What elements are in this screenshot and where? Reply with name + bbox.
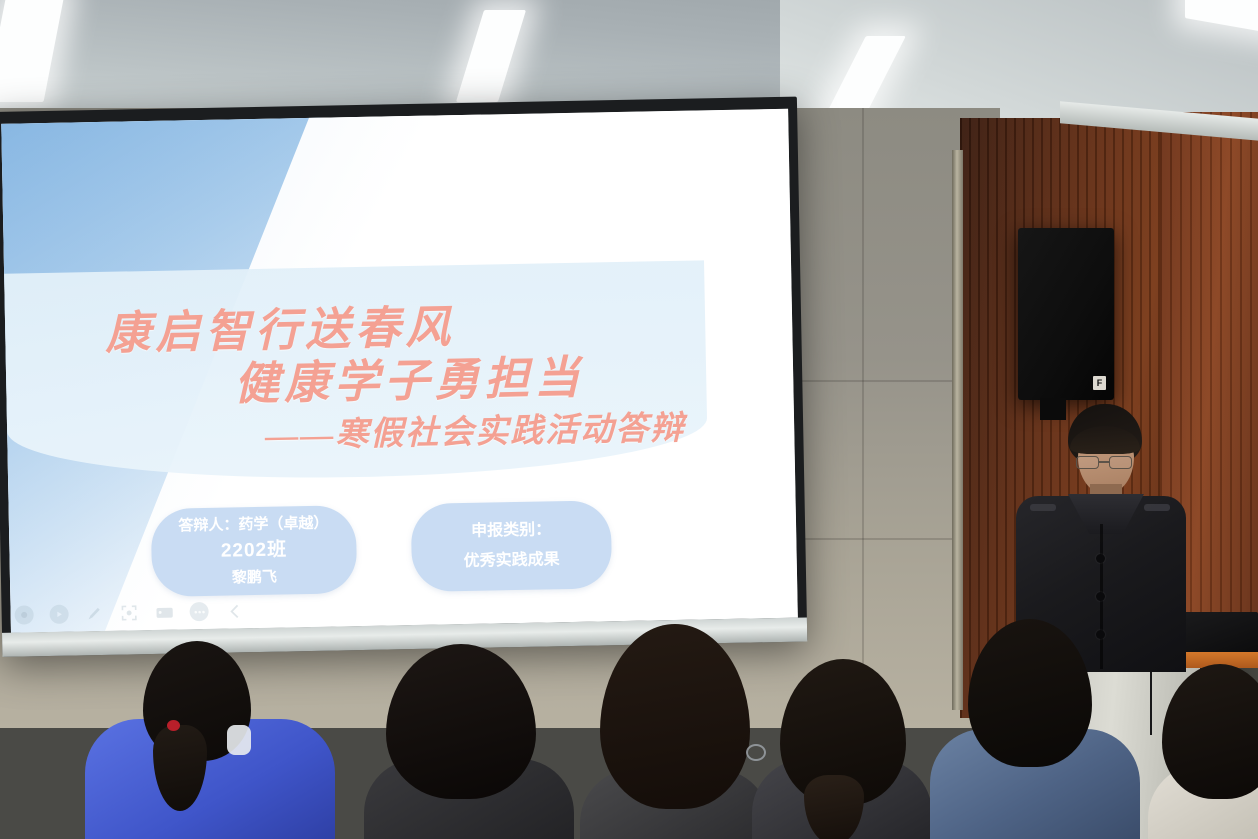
pen-icon[interactable] bbox=[84, 604, 103, 623]
presenter-epaulet-right bbox=[1144, 504, 1170, 511]
presenter-coat-button-1 bbox=[1096, 554, 1105, 563]
play-icon[interactable] bbox=[49, 605, 68, 624]
presenter-glasses-bridge bbox=[1099, 461, 1109, 463]
presenter-glasses-lens-right bbox=[1109, 456, 1132, 469]
pa-speaker: F bbox=[1018, 228, 1114, 400]
slide-pill-presenter: 答辩人：药学（卓越） 2202班 黎鹏飞 bbox=[151, 505, 358, 597]
presenter-coat-button-2 bbox=[1096, 592, 1105, 601]
laser-focus-icon[interactable] bbox=[119, 603, 138, 622]
audience-blue-jacket-mask bbox=[227, 725, 251, 755]
audience-bob-hair bbox=[364, 644, 574, 839]
audience-dark-coat-ponytail bbox=[804, 775, 864, 839]
pill-presenter-line-1: 答辩人：药学（卓越） bbox=[178, 512, 328, 538]
pill-category-line-1: 申报类别： bbox=[471, 515, 552, 547]
audience-long-hair-head bbox=[600, 624, 750, 809]
screen-icon[interactable] bbox=[154, 603, 173, 622]
audience-blue-jacket bbox=[85, 639, 335, 839]
presenter-glasses bbox=[1076, 456, 1136, 469]
lecture-hall-scene: F 康启智行送春风 健康学子勇担当 ——寒假社会实践活动答辩 答辩人：药学（卓越… bbox=[0, 0, 1258, 839]
audience-bob-hair-head bbox=[386, 644, 536, 799]
record-icon[interactable] bbox=[14, 605, 33, 624]
audience-blue-sweater-head bbox=[968, 619, 1092, 767]
slide-title-line-2: 健康学子勇担当 bbox=[234, 341, 585, 413]
audience-blue-sweater bbox=[930, 619, 1140, 839]
pill-category-line-2: 优秀实践成果 bbox=[463, 545, 560, 577]
audience-right-edge-head bbox=[1162, 664, 1258, 799]
presenter-epaulet-left bbox=[1030, 504, 1056, 511]
audience-dark-coat-glasses bbox=[746, 744, 766, 761]
slide-title-line-3: ——寒假社会实践活动答辩 bbox=[265, 401, 686, 457]
audience-long-hair bbox=[580, 624, 770, 839]
more-options-icon[interactable] bbox=[189, 602, 208, 621]
projection-screen-surface: 康启智行送春风 健康学子勇担当 ——寒假社会实践活动答辩 答辩人：药学（卓越） … bbox=[1, 109, 798, 633]
audience-dark-coat bbox=[752, 659, 932, 839]
presentation-slide: 康启智行送春风 健康学子勇担当 ——寒假社会实践活动答辩 答辩人：药学（卓越） … bbox=[1, 109, 798, 633]
pill-presenter-line-2: 2202班 bbox=[221, 536, 288, 567]
pill-presenter-line-3: 黎鹏飞 bbox=[232, 565, 277, 589]
wall-seam-vertical bbox=[862, 108, 864, 728]
chevron-left-icon[interactable] bbox=[224, 601, 243, 620]
projection-screen-frame: 康启智行送春风 健康学子勇担当 ——寒假社会实践活动答辩 答辩人：药学（卓越） … bbox=[0, 97, 807, 657]
presenter-glasses-lens-left bbox=[1076, 456, 1099, 469]
audience-blue-jacket-hairtie bbox=[167, 720, 180, 731]
slide-pill-category: 申报类别： 优秀实践成果 bbox=[411, 500, 613, 592]
audience-right-edge bbox=[1148, 664, 1258, 839]
pa-speaker-badge: F bbox=[1093, 376, 1106, 390]
